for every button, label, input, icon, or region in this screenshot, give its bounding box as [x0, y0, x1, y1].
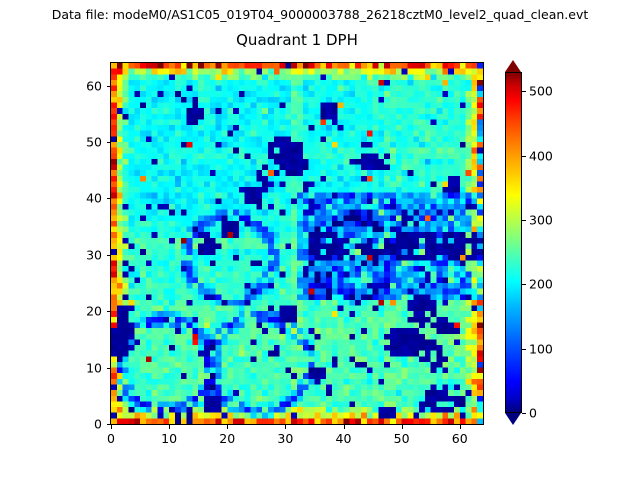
- x-tick-label: 0: [107, 431, 115, 446]
- y-tick-label: 0: [94, 417, 102, 432]
- data-file-suptitle: Data file: modeM0/AS1C05_019T04_90000037…: [0, 7, 640, 22]
- x-tick-mark: [460, 425, 461, 429]
- colorbar-tick-mark: [522, 413, 526, 414]
- colorbar-tick-mark: [522, 156, 526, 157]
- y-tick-mark: [107, 86, 111, 87]
- x-tick-mark: [344, 425, 345, 429]
- y-tick-mark: [107, 368, 111, 369]
- heatmap-axes: 0102030405060 0102030405060: [110, 62, 484, 425]
- y-tick-label: 10: [86, 360, 102, 375]
- x-tick-label: 40: [336, 431, 352, 446]
- y-tick-mark: [107, 311, 111, 312]
- colorbar-tick-mark: [522, 284, 526, 285]
- colorbar-tick-label: 400: [529, 148, 553, 163]
- y-tick-label: 60: [86, 78, 102, 93]
- colorbar-tick-mark: [522, 91, 526, 92]
- x-tick-label: 30: [277, 431, 293, 446]
- x-tick-label: 10: [161, 431, 177, 446]
- colorbar-tick-label: 100: [529, 341, 553, 356]
- matplotlib-figure: Data file: modeM0/AS1C05_019T04_90000037…: [0, 0, 640, 480]
- colorbar-tick-label: 500: [529, 84, 553, 99]
- y-tick-label: 30: [86, 247, 102, 262]
- colorbar-extend-max-arrow-icon: [505, 60, 521, 72]
- y-tick-label: 50: [86, 134, 102, 149]
- x-tick-mark: [285, 425, 286, 429]
- y-tick-mark: [107, 198, 111, 199]
- y-tick-mark: [107, 142, 111, 143]
- colorbar-tick-label: 0: [529, 406, 537, 421]
- colorbar-tick-label: 200: [529, 277, 553, 292]
- y-tick-label: 40: [86, 191, 102, 206]
- x-tick-mark: [111, 425, 112, 429]
- colorbar: 0100200300400500: [505, 72, 522, 413]
- y-tick-mark: [107, 255, 111, 256]
- x-tick-mark: [169, 425, 170, 429]
- x-tick-label: 60: [452, 431, 468, 446]
- page-title: Quadrant 1 DPH: [0, 31, 594, 49]
- heatmap-image: [111, 63, 483, 424]
- x-tick-label: 20: [219, 431, 235, 446]
- colorbar-extend-min-arrow-icon: [505, 413, 521, 425]
- colorbar-tick-mark: [522, 220, 526, 221]
- y-tick-mark: [107, 424, 111, 425]
- x-tick-label: 50: [394, 431, 410, 446]
- colorbar-tick-mark: [522, 349, 526, 350]
- colorbar-tick-label: 300: [529, 212, 553, 227]
- x-tick-mark: [227, 425, 228, 429]
- x-tick-mark: [402, 425, 403, 429]
- y-tick-label: 20: [86, 304, 102, 319]
- colorbar-gradient: [505, 72, 522, 413]
